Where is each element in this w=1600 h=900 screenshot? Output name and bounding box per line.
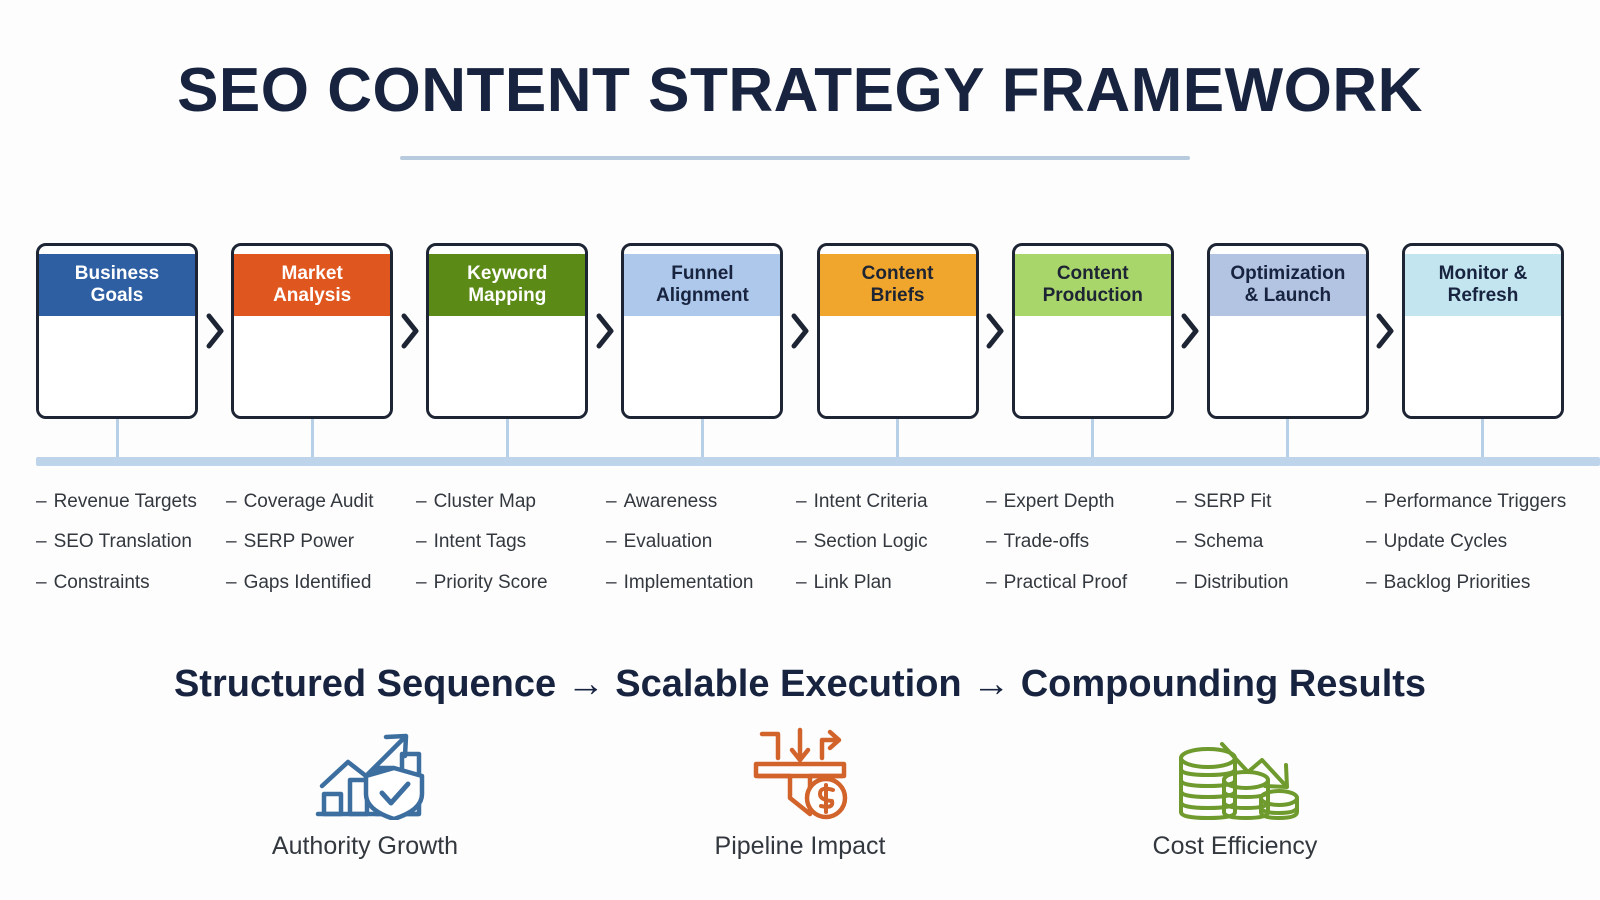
stage-body bbox=[1210, 316, 1366, 416]
stage-title: ContentBriefs bbox=[820, 254, 976, 316]
bullet-dash-marker: – bbox=[36, 490, 47, 514]
bullet-dash-marker: – bbox=[226, 490, 237, 514]
stage-card[interactable]: Monitor &Refresh bbox=[1402, 243, 1564, 419]
list-item-label: Intent Tags bbox=[434, 530, 527, 554]
title-underline-rule bbox=[400, 156, 1190, 160]
list-item-label: Backlog Priorities bbox=[1384, 571, 1531, 595]
chevron-right-icon bbox=[979, 243, 1012, 419]
bullet-dash-marker: – bbox=[416, 530, 427, 554]
outcome-label: Pipeline Impact bbox=[715, 832, 886, 861]
stage-detail-column: –Cluster Map–Intent Tags–Priority Score bbox=[416, 490, 606, 620]
stage-card[interactable]: MarketAnalysis bbox=[231, 243, 393, 419]
stage-body bbox=[820, 316, 976, 416]
stage-card[interactable]: ContentProduction bbox=[1012, 243, 1174, 419]
stage-title: Monitor &Refresh bbox=[1405, 254, 1561, 316]
bullet-dash-marker: – bbox=[1176, 530, 1187, 554]
list-item: –Implementation bbox=[606, 571, 790, 595]
list-item: –Coverage Audit bbox=[226, 490, 410, 514]
stage-detail-column: –Revenue Targets–SEO Translation–Constra… bbox=[36, 490, 226, 620]
stage-detail-column: –Expert Depth–Trade-offs–Practical Proof bbox=[986, 490, 1176, 620]
list-item: –Intent Criteria bbox=[796, 490, 980, 514]
bullet-dash-marker: – bbox=[986, 530, 997, 554]
outcome-cost-efficiency: Cost Efficiency bbox=[1070, 722, 1400, 872]
list-item-label: Revenue Targets bbox=[54, 490, 197, 514]
stage-card[interactable]: FunnelAlignment bbox=[621, 243, 783, 419]
bullet-dash-marker: – bbox=[986, 490, 997, 514]
stage-detail-column: –Intent Criteria–Section Logic–Link Plan bbox=[796, 490, 986, 620]
list-item: –Awareness bbox=[606, 490, 790, 514]
outcomes-row: Authority Growth Pipe bbox=[200, 722, 1400, 872]
bullet-dash-marker: – bbox=[416, 571, 427, 595]
stage-title: MarketAnalysis bbox=[234, 254, 390, 316]
list-item: –Intent Tags bbox=[416, 530, 600, 554]
bullet-dash-marker: – bbox=[1366, 530, 1377, 554]
bullet-dash-marker: – bbox=[226, 571, 237, 595]
connector-drop-line bbox=[1091, 419, 1094, 457]
list-item: –SEO Translation bbox=[36, 530, 220, 554]
stage-body bbox=[39, 316, 195, 416]
stage-card[interactable]: Optimization& Launch bbox=[1207, 243, 1369, 419]
list-item-label: Gaps Identified bbox=[244, 571, 372, 595]
outcome-pipeline-impact: Pipeline Impact bbox=[635, 722, 965, 872]
stage-detail-column: –Coverage Audit–SERP Power–Gaps Identifi… bbox=[226, 490, 416, 620]
list-item-label: Priority Score bbox=[434, 571, 548, 595]
list-item-label: Cluster Map bbox=[434, 490, 536, 514]
list-item-label: Awareness bbox=[624, 490, 718, 514]
bullet-dash-marker: – bbox=[796, 530, 807, 554]
list-item-label: Distribution bbox=[1194, 571, 1289, 595]
chevron-right-icon bbox=[588, 243, 621, 419]
connector-drop-line bbox=[896, 419, 899, 457]
list-item-label: Schema bbox=[1194, 530, 1264, 554]
list-item: –Gaps Identified bbox=[226, 571, 410, 595]
list-item-label: Intent Criteria bbox=[814, 490, 928, 514]
coins-down-arrow-icon bbox=[1170, 722, 1300, 822]
connector-drop-line bbox=[1481, 419, 1484, 457]
stage-body bbox=[234, 316, 390, 416]
stage-card[interactable]: ContentBriefs bbox=[817, 243, 979, 419]
connector-drop-line bbox=[311, 419, 314, 457]
stage-card[interactable]: BusinessGoals bbox=[36, 243, 198, 419]
list-item: –Priority Score bbox=[416, 571, 600, 595]
connector-drop-line bbox=[701, 419, 704, 457]
list-item: –Update Cycles bbox=[1366, 530, 1570, 554]
stage-body bbox=[429, 316, 585, 416]
list-item: –Link Plan bbox=[796, 571, 980, 595]
connector-drop-line bbox=[1286, 419, 1289, 457]
page-title: SEO CONTENT STRATEGY FRAMEWORK bbox=[0, 58, 1600, 123]
connector-drop-line bbox=[116, 419, 119, 457]
list-item-label: Evaluation bbox=[624, 530, 713, 554]
chevron-right-icon bbox=[1174, 243, 1207, 419]
bullet-dash-marker: – bbox=[1176, 490, 1187, 514]
stage-title: BusinessGoals bbox=[39, 254, 195, 316]
chevron-right-icon bbox=[1369, 243, 1402, 419]
connector-rail bbox=[36, 457, 1600, 466]
stage-detail-column: –Awareness–Evaluation–Implementation bbox=[606, 490, 796, 620]
list-item: –Evaluation bbox=[606, 530, 790, 554]
list-item-label: Update Cycles bbox=[1384, 530, 1508, 554]
outcome-label: Cost Efficiency bbox=[1153, 832, 1318, 861]
bullet-dash-marker: – bbox=[986, 571, 997, 595]
list-item-label: Constraints bbox=[54, 571, 150, 595]
bullet-dash-marker: – bbox=[606, 571, 617, 595]
stage-title: ContentProduction bbox=[1015, 254, 1171, 316]
bullet-dash-marker: – bbox=[1366, 490, 1377, 514]
stage-body bbox=[1405, 316, 1561, 416]
list-item-label: Coverage Audit bbox=[244, 490, 374, 514]
stage-body bbox=[1015, 316, 1171, 416]
page-title-block: SEO CONTENT STRATEGY FRAMEWORK bbox=[0, 58, 1600, 123]
bullet-dash-marker: – bbox=[1366, 571, 1377, 595]
list-item: –SERP Fit bbox=[1176, 490, 1360, 514]
connector-group bbox=[0, 419, 1600, 465]
stage-title: Optimization& Launch bbox=[1210, 254, 1366, 316]
bullet-dash-marker: – bbox=[796, 490, 807, 514]
list-item-label: Expert Depth bbox=[1004, 490, 1115, 514]
stage-detail-column: –SERP Fit–Schema–Distribution bbox=[1176, 490, 1366, 620]
list-item-label: Performance Triggers bbox=[1384, 490, 1567, 514]
list-item: –Section Logic bbox=[796, 530, 980, 554]
outcome-label: Authority Growth bbox=[272, 832, 458, 861]
chevron-right-icon bbox=[783, 243, 816, 419]
list-item-label: SERP Fit bbox=[1194, 490, 1272, 514]
stage-title: FunnelAlignment bbox=[624, 254, 780, 316]
list-item: –Cluster Map bbox=[416, 490, 600, 514]
list-item: –Performance Triggers bbox=[1366, 490, 1570, 514]
list-item: –Revenue Targets bbox=[36, 490, 220, 514]
list-item: –Backlog Priorities bbox=[1366, 571, 1570, 595]
bullet-dash-marker: – bbox=[36, 571, 47, 595]
connector-drop-line bbox=[506, 419, 509, 457]
list-item-label: Implementation bbox=[624, 571, 754, 595]
bullet-dash-marker: – bbox=[416, 490, 427, 514]
funnel-dollar-icon bbox=[740, 722, 860, 822]
list-item: –Distribution bbox=[1176, 571, 1360, 595]
bullet-dash-marker: – bbox=[606, 490, 617, 514]
list-item: –Constraints bbox=[36, 571, 220, 595]
list-item-label: Trade-offs bbox=[1004, 530, 1090, 554]
outcome-authority-growth: Authority Growth bbox=[200, 722, 530, 872]
list-item-label: SEO Translation bbox=[54, 530, 192, 554]
stage-body bbox=[624, 316, 780, 416]
bullet-dash-marker: – bbox=[606, 530, 617, 554]
list-item: –SERP Power bbox=[226, 530, 410, 554]
bullet-dash-marker: – bbox=[796, 571, 807, 595]
list-item: –Schema bbox=[1176, 530, 1360, 554]
stage-detail-column: –Performance Triggers–Update Cycles–Back… bbox=[1366, 490, 1576, 620]
list-item-label: Link Plan bbox=[814, 571, 892, 595]
stage-sequence: BusinessGoalsMarketAnalysisKeywordMappin… bbox=[36, 243, 1564, 419]
stage-title: KeywordMapping bbox=[429, 254, 585, 316]
stage-card[interactable]: KeywordMapping bbox=[426, 243, 588, 419]
list-item-label: SERP Power bbox=[244, 530, 355, 554]
tagline: Structured Sequence → Scalable Execution… bbox=[0, 663, 1600, 706]
list-item-label: Section Logic bbox=[814, 530, 928, 554]
bullet-dash-marker: – bbox=[226, 530, 237, 554]
list-item: –Trade-offs bbox=[986, 530, 1170, 554]
stage-details-row: –Revenue Targets–SEO Translation–Constra… bbox=[36, 490, 1596, 620]
list-item-label: Practical Proof bbox=[1004, 571, 1128, 595]
bullet-dash-marker: – bbox=[36, 530, 47, 554]
growth-shield-icon bbox=[300, 722, 430, 822]
list-item: –Practical Proof bbox=[986, 571, 1170, 595]
bullet-dash-marker: – bbox=[1176, 571, 1187, 595]
list-item: –Expert Depth bbox=[986, 490, 1170, 514]
chevron-right-icon bbox=[198, 243, 231, 419]
chevron-right-icon bbox=[393, 243, 426, 419]
